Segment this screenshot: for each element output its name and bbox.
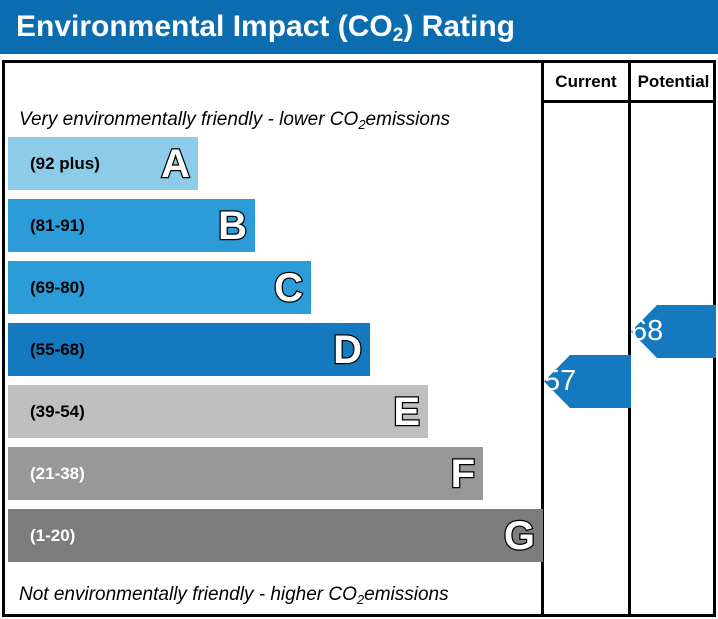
band-row-a: (92 plus)A	[8, 137, 198, 190]
title-text-post: ) Rating	[403, 10, 515, 43]
caption-top-post: emissions	[366, 109, 450, 131]
title-banner: Environmental Impact (CO2) Rating	[0, 0, 718, 54]
title-text-pre: Environmental Impact (CO	[16, 10, 393, 43]
caption-bottom: Not environmentally friendly - higher CO…	[5, 575, 541, 615]
caption-bottom-pre: Not environmentally friendly - higher CO	[19, 584, 357, 606]
caption-bottom-post: emissions	[364, 584, 448, 606]
band-row-f: (21-38)F	[8, 447, 483, 500]
potential-rating-marker: 68	[631, 305, 677, 358]
potential-rating-value: 68	[631, 315, 677, 348]
band-letter-d: D	[333, 330, 362, 370]
band-range-d: (55-68)	[8, 340, 85, 360]
band-range-a: (92 plus)	[8, 154, 100, 174]
current-rating-value: 57	[544, 365, 590, 398]
band-letter-f: F	[451, 454, 475, 494]
band-row-g: (1-20)G	[8, 509, 543, 562]
band-range-e: (39-54)	[8, 402, 85, 422]
band-letter-b: B	[218, 206, 247, 246]
band-range-g: (1-20)	[8, 526, 75, 546]
band-letter-a: A	[161, 144, 190, 184]
caption-bottom-subscript: 2	[357, 592, 364, 607]
epc-environmental-impact-chart: Environmental Impact (CO2) Rating Curren…	[0, 0, 718, 619]
band-list: (92 plus)A(81-91)B(69-80)C(55-68)D(39-54…	[5, 137, 541, 575]
band-letter-g: G	[504, 516, 535, 556]
current-rating-marker: 57	[544, 355, 590, 408]
title-subscript: 2	[393, 25, 404, 46]
rating-table: Current Potential Very environmentally f…	[2, 60, 716, 617]
band-range-f: (21-38)	[8, 464, 85, 484]
band-letter-c: C	[274, 268, 303, 308]
column-header-potential: Potential	[631, 63, 716, 100]
caption-top: Very environmentally friendly - lower CO…	[5, 100, 541, 140]
band-row-b: (81-91)B	[8, 199, 255, 252]
band-range-b: (81-91)	[8, 216, 85, 236]
page-title: Environmental Impact (CO2) Rating	[0, 10, 515, 44]
band-letter-e: E	[393, 392, 420, 432]
header-bottom-rule	[541, 100, 716, 103]
column-header-current: Current	[544, 63, 628, 100]
band-row-e: (39-54)E	[8, 385, 428, 438]
band-row-d: (55-68)D	[8, 323, 370, 376]
band-range-c: (69-80)	[8, 278, 85, 298]
caption-top-subscript: 2	[358, 117, 365, 132]
band-row-c: (69-80)C	[8, 261, 311, 314]
caption-top-pre: Very environmentally friendly - lower CO	[19, 109, 358, 131]
